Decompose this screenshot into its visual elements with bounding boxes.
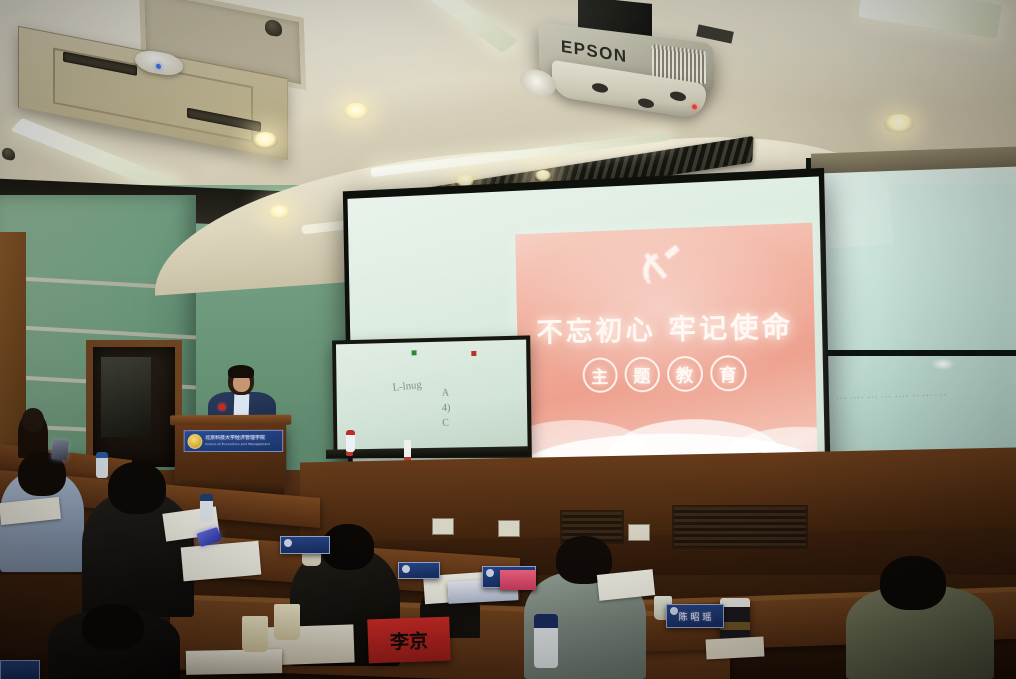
recessed-downlight	[534, 170, 552, 182]
recessed-downlight	[268, 205, 290, 219]
smoke-detector-led	[156, 64, 161, 70]
water-bottle[interactable]	[200, 494, 213, 522]
napkin	[706, 636, 765, 659]
recessed-downlight	[252, 132, 278, 149]
water-bottle[interactable]	[346, 430, 355, 452]
subtitle-char: 主	[582, 357, 618, 393]
placard-logo-icon	[670, 607, 678, 615]
recessed-downlight	[343, 103, 369, 120]
name-card-red: 李京	[367, 617, 450, 664]
glassboard-divider	[811, 350, 1016, 356]
notebook[interactable]	[186, 649, 282, 675]
wall-vent-grille	[672, 505, 808, 549]
podium: 北京科技大学经济管理学院 School of Economics and Man…	[175, 422, 286, 485]
name-placard	[280, 536, 330, 554]
classroom-door[interactable]	[86, 340, 182, 467]
wall-outlet[interactable]	[498, 520, 520, 537]
placard-logo-icon	[284, 539, 292, 547]
projector-foot	[592, 82, 608, 94]
podium-sign-subtitle: School of Economics and Management	[205, 441, 270, 447]
whiteboard-scribble: L-lnug	[392, 379, 422, 394]
door-window	[101, 357, 151, 437]
attendee-head	[22, 408, 44, 432]
placard-text: 陈 昭 瑶	[679, 610, 712, 623]
name-card-text: 李京	[390, 626, 429, 654]
podium-sign: 北京科技大学经济管理学院 School of Economics and Man…	[184, 430, 284, 452]
name-placard: 陈 昭 瑶	[666, 604, 724, 628]
whiteboard-marker[interactable]	[404, 440, 411, 462]
placard-logo-icon	[402, 565, 410, 573]
presentation-slide: 不忘初心 牢记使命 主 题 教 育	[515, 223, 817, 461]
water-bottle[interactable]	[534, 614, 558, 668]
speaker-hair	[228, 365, 254, 378]
projector-foot	[670, 90, 686, 102]
slide-subtitle: 主 题 教 育	[518, 354, 816, 394]
coffee-cup-band	[720, 622, 750, 630]
podium-sign-text: 北京科技大学经济管理学院 School of Economics and Man…	[205, 435, 270, 447]
smartphone[interactable]	[51, 439, 69, 461]
attendee-head	[880, 556, 946, 610]
handout-paper[interactable]	[181, 541, 262, 582]
subtitle-char: 育	[709, 355, 746, 391]
paper-cup[interactable]	[242, 616, 268, 652]
name-placard	[398, 562, 440, 579]
glassboard-light-reflection	[931, 358, 955, 370]
party-badge-pin	[219, 404, 225, 410]
water-bottle[interactable]	[96, 452, 108, 478]
subtitle-char: 题	[624, 357, 660, 393]
projector-foot	[638, 97, 654, 109]
attendee-head	[108, 462, 166, 514]
paper-cup[interactable]	[274, 604, 300, 640]
whiteboard-magnet-green	[412, 350, 417, 355]
whiteboard-letters: A4)C	[442, 386, 451, 431]
wall-outlet[interactable]	[432, 518, 454, 535]
hammer-and-sickle-icon	[634, 244, 688, 290]
placard-logo-icon	[486, 569, 494, 577]
slide-headline: 不忘初心 牢记使命	[517, 304, 815, 350]
projector-indicator-led	[692, 104, 697, 110]
wood-wainscot-upper	[300, 448, 1016, 543]
speaker-shirt	[234, 394, 250, 417]
lecture-hall-photo: EPSON ··· ···· ··· ··· ···· ·· ···· ··	[0, 0, 1016, 679]
left-whiteboard[interactable]: L-lnug A4)C	[332, 335, 532, 458]
wall-outlet[interactable]	[628, 524, 650, 541]
university-emblem-icon	[188, 434, 203, 449]
subtitle-char: 教	[666, 356, 703, 392]
recessed-downlight	[884, 114, 914, 133]
podium-top-edge	[170, 415, 291, 426]
pink-card	[500, 570, 536, 590]
name-placard	[0, 660, 40, 679]
attendee-head	[82, 604, 144, 650]
whiteboard-magnet-red	[471, 351, 476, 356]
